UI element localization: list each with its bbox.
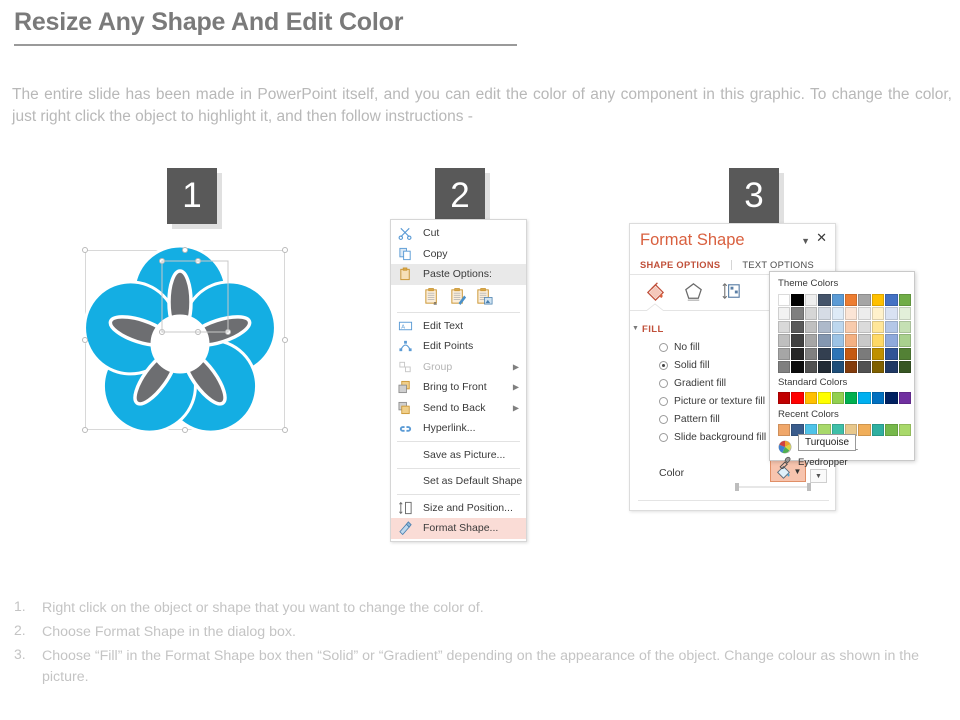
instruction-number: 3. xyxy=(14,646,42,688)
fill-option-no-fill[interactable]: No fill xyxy=(659,342,700,353)
theme-color-swatch[interactable] xyxy=(885,294,897,306)
context-menu-item-label: Edit Text xyxy=(423,320,463,332)
theme-color-swatch[interactable] xyxy=(818,334,830,346)
step-badge-1: 1 xyxy=(167,168,217,224)
context-menu-item-cut[interactable]: Cut xyxy=(391,223,526,244)
theme-color-swatch[interactable] xyxy=(832,307,844,319)
theme-color-swatch[interactable] xyxy=(858,294,870,306)
group-icon xyxy=(397,359,414,374)
standard-color-swatch[interactable] xyxy=(791,392,803,404)
recent-color-swatch[interactable] xyxy=(778,424,790,436)
theme-color-swatch[interactable] xyxy=(832,294,844,306)
standard-colors-label: Standard Colors xyxy=(778,377,847,388)
theme-color-swatch[interactable] xyxy=(791,361,803,373)
instruction-item-2: 2.Choose Format Shape in the dialog box. xyxy=(14,622,944,643)
context-menu[interactable]: CutCopyPaste Options:aAEdit TextEdit Poi… xyxy=(390,219,527,542)
transparency-slider[interactable] xyxy=(735,482,813,492)
recent-color-swatch[interactable] xyxy=(899,424,911,436)
theme-color-swatch[interactable] xyxy=(791,321,803,333)
svg-text:a: a xyxy=(433,301,437,306)
theme-color-swatch[interactable] xyxy=(845,348,857,360)
active-tab-pointer xyxy=(646,303,664,311)
theme-color-swatch[interactable] xyxy=(818,294,830,306)
paste-options-icons[interactable]: a xyxy=(391,285,526,310)
pentagon-effects-icon[interactable] xyxy=(682,280,705,303)
fill-option-label: Solid fill xyxy=(674,360,709,371)
theme-color-swatch[interactable] xyxy=(805,348,817,360)
page-title: Resize Any Shape And Edit Color xyxy=(14,8,403,37)
context-menu-item-save-as-picture[interactable]: Save as Picture... xyxy=(391,445,526,466)
theme-color-swatch[interactable] xyxy=(805,294,817,306)
instruction-list: 1.Right click on the object or shape tha… xyxy=(14,598,944,691)
context-menu-item-label: Save as Picture... xyxy=(423,449,505,461)
eyedropper-action[interactable]: Eyedropper xyxy=(778,455,848,469)
fill-option-solid-fill[interactable]: Solid fill xyxy=(659,360,709,371)
theme-color-swatch[interactable] xyxy=(872,334,884,346)
theme-color-swatch[interactable] xyxy=(872,307,884,319)
theme-color-swatch[interactable] xyxy=(899,348,911,360)
theme-color-swatch[interactable] xyxy=(778,294,790,306)
context-menu-item-label: Bring to Front xyxy=(423,381,487,393)
standard-color-swatch[interactable] xyxy=(832,392,844,404)
standard-color-swatch[interactable] xyxy=(885,392,897,404)
copy-icon xyxy=(397,246,414,261)
context-menu-item-edit-text[interactable]: AEdit Text xyxy=(391,316,526,337)
fill-bucket-icon[interactable] xyxy=(644,280,667,303)
radio-button[interactable] xyxy=(659,415,668,424)
instruction-number: 1. xyxy=(14,598,42,619)
color-wheel-icon xyxy=(778,440,792,454)
theme-color-swatch[interactable] xyxy=(872,361,884,373)
context-menu-item-label: Copy xyxy=(423,248,448,260)
theme-color-swatch[interactable] xyxy=(818,361,830,373)
theme-color-swatch[interactable] xyxy=(845,294,857,306)
close-icon[interactable]: ✕ xyxy=(816,231,827,244)
theme-color-swatch[interactable] xyxy=(791,348,803,360)
fill-option-gradient-fill[interactable]: Gradient fill xyxy=(659,378,726,389)
context-menu-item-copy[interactable]: Copy xyxy=(391,244,526,265)
theme-color-swatch[interactable] xyxy=(832,348,844,360)
recent-color-swatch[interactable] xyxy=(858,424,870,436)
radio-button[interactable] xyxy=(659,343,668,352)
theme-color-swatch[interactable] xyxy=(818,348,830,360)
theme-color-swatch[interactable] xyxy=(805,321,817,333)
fill-option-label: No fill xyxy=(674,342,700,353)
context-menu-item-label: Hyperlink... xyxy=(423,422,476,434)
pane-options-chevron-down-icon[interactable]: ▼ xyxy=(801,236,810,246)
paste-picture-icon[interactable] xyxy=(475,287,494,306)
instruction-text: Choose Format Shape in the dialog box. xyxy=(42,622,296,643)
theme-color-swatch[interactable] xyxy=(845,321,857,333)
fill-option-picture-or-texture-fill[interactable]: Picture or texture fill xyxy=(659,396,765,407)
standard-color-swatch[interactable] xyxy=(778,392,790,404)
sub-selection-outline xyxy=(85,250,285,430)
theme-color-swatch[interactable] xyxy=(818,321,830,333)
instruction-text: Choose “Fill” in the Format Shape box th… xyxy=(42,646,944,688)
fill-option-label: Slide background fill xyxy=(674,432,766,443)
context-menu-item-label: Send to Back xyxy=(423,402,485,414)
menu-separator xyxy=(397,468,520,469)
theme-color-swatch[interactable] xyxy=(872,348,884,360)
theme-color-swatch[interactable] xyxy=(858,348,870,360)
eyedropper-icon xyxy=(778,455,792,469)
theme-color-swatch[interactable] xyxy=(899,321,911,333)
context-menu-item-label: Size and Position... xyxy=(423,502,513,514)
paste-use-theme-icon[interactable] xyxy=(449,287,468,306)
standard-color-swatch[interactable] xyxy=(858,392,870,404)
fill-option-label: Gradient fill xyxy=(674,378,726,389)
theme-color-swatch[interactable] xyxy=(845,334,857,346)
format-shape-title: Format Shape xyxy=(640,231,745,250)
context-menu-item-set-as-default-shape[interactable]: Set as Default Shape xyxy=(391,471,526,492)
theme-color-swatch[interactable] xyxy=(791,307,803,319)
instruction-text: Right click on the object or shape that … xyxy=(42,598,484,619)
send-back-icon xyxy=(397,400,414,415)
context-menu-item-paste-options[interactable]: Paste Options: xyxy=(391,264,526,285)
context-menu-item-label: Edit Points xyxy=(423,340,473,352)
theme-color-swatch[interactable] xyxy=(885,348,897,360)
context-menu-item-bring-to-front[interactable]: Bring to Front▶ xyxy=(391,377,526,398)
instruction-item-3: 3.Choose “Fill” in the Format Shape box … xyxy=(14,646,944,688)
submenu-chevron-right-icon: ▶ xyxy=(513,362,519,371)
scissors-icon xyxy=(397,226,414,241)
theme-color-swatch[interactable] xyxy=(845,361,857,373)
theme-color-swatch[interactable] xyxy=(805,307,817,319)
theme-color-swatch[interactable] xyxy=(832,334,844,346)
paste-icon xyxy=(397,267,414,282)
theme-color-swatch[interactable] xyxy=(872,294,884,306)
context-menu-item-hyperlink[interactable]: Hyperlink... xyxy=(391,418,526,439)
context-menu-item-format-shape[interactable]: Format Shape... xyxy=(391,518,526,539)
theme-color-swatch[interactable] xyxy=(845,307,857,319)
theme-color-swatch[interactable] xyxy=(885,307,897,319)
edit-text-icon: A xyxy=(397,318,414,333)
fill-section-collapse-icon[interactable]: ▼ xyxy=(632,325,639,332)
flower-graphic-panel[interactable] xyxy=(85,250,285,430)
intro-paragraph: The entire slide has been made in PowerP… xyxy=(12,84,952,129)
size-position-icon xyxy=(397,500,414,515)
context-menu-item-label: Format Shape... xyxy=(423,522,498,534)
color-tooltip: Turquoise xyxy=(798,434,856,451)
context-menu-item-label: Group xyxy=(423,361,452,373)
context-menu-item-send-to-back[interactable]: Send to Back▶ xyxy=(391,398,526,419)
fill-option-label: Picture or texture fill xyxy=(674,396,765,407)
fill-option-pattern-fill[interactable]: Pattern fill xyxy=(659,414,720,425)
theme-color-swatch[interactable] xyxy=(899,307,911,319)
theme-color-swatch[interactable] xyxy=(778,361,790,373)
edit-points-icon xyxy=(397,339,414,354)
theme-color-swatch[interactable] xyxy=(791,334,803,346)
theme-color-swatch[interactable] xyxy=(832,361,844,373)
color-field-label: Color xyxy=(659,467,684,479)
fill-option-slide-background-fill[interactable]: Slide background fill xyxy=(659,432,766,443)
recent-colors-label: Recent Colors xyxy=(778,409,839,420)
standard-color-swatch[interactable] xyxy=(899,392,911,404)
transparency-spinner[interactable]: ▼ xyxy=(810,469,827,483)
context-menu-item-label: Paste Options: xyxy=(423,268,492,280)
fill-section-header: FILL xyxy=(642,324,664,335)
standard-color-swatch[interactable] xyxy=(805,392,817,404)
context-menu-item-group: Group▶ xyxy=(391,357,526,378)
recent-color-swatch[interactable] xyxy=(872,424,884,436)
menu-separator xyxy=(397,441,520,442)
radio-button[interactable] xyxy=(659,379,668,388)
menu-separator xyxy=(397,312,520,313)
instruction-number: 2. xyxy=(14,622,42,643)
theme-color-swatch[interactable] xyxy=(899,334,911,346)
theme-color-swatch[interactable] xyxy=(899,294,911,306)
pane-bottom-divider xyxy=(638,500,829,501)
tab-shape-options[interactable]: SHAPE OPTIONS xyxy=(640,260,720,270)
theme-color-swatch[interactable] xyxy=(805,334,817,346)
context-menu-item-size-and-position[interactable]: Size and Position... xyxy=(391,498,526,519)
hyperlink-icon xyxy=(397,421,414,436)
theme-color-swatch[interactable] xyxy=(818,307,830,319)
theme-colors-grid[interactable] xyxy=(778,294,911,373)
recent-color-swatch[interactable] xyxy=(885,424,897,436)
color-picker-dropdown[interactable]: Theme Colors Standard Colors Recent Colo… xyxy=(769,271,915,461)
theme-color-swatch[interactable] xyxy=(791,294,803,306)
step-badge-3: 3 xyxy=(729,168,779,224)
submenu-chevron-right-icon: ▶ xyxy=(513,383,519,392)
radio-button[interactable] xyxy=(659,361,668,370)
standard-color-swatch[interactable] xyxy=(872,392,884,404)
context-menu-item-edit-points[interactable]: Edit Points xyxy=(391,336,526,357)
radio-button[interactable] xyxy=(659,433,668,442)
theme-color-swatch[interactable] xyxy=(778,348,790,360)
theme-color-swatch[interactable] xyxy=(832,321,844,333)
tab-text-options[interactable]: TEXT OPTIONS xyxy=(731,260,814,270)
theme-color-swatch[interactable] xyxy=(872,321,884,333)
radio-button[interactable] xyxy=(659,397,668,406)
theme-color-swatch[interactable] xyxy=(885,334,897,346)
theme-color-swatch[interactable] xyxy=(885,321,897,333)
fill-option-label: Pattern fill xyxy=(674,414,720,425)
bring-front-icon xyxy=(397,380,414,395)
standard-color-swatch[interactable] xyxy=(845,392,857,404)
submenu-chevron-right-icon: ▶ xyxy=(513,403,519,412)
paste-keep-source-icon[interactable]: a xyxy=(423,287,442,306)
theme-colors-label: Theme Colors xyxy=(778,278,838,289)
theme-color-swatch[interactable] xyxy=(778,321,790,333)
step-badge-2: 2 xyxy=(435,168,485,224)
title-underline xyxy=(14,44,517,46)
size-properties-icon[interactable] xyxy=(720,280,743,303)
svg-text:A: A xyxy=(401,324,405,330)
instruction-item-1: 1.Right click on the object or shape tha… xyxy=(14,598,944,619)
theme-color-swatch[interactable] xyxy=(885,361,897,373)
theme-color-swatch[interactable] xyxy=(858,321,870,333)
theme-color-swatch[interactable] xyxy=(778,307,790,319)
theme-color-swatch[interactable] xyxy=(858,307,870,319)
eyedropper-label: Eyedropper xyxy=(798,457,848,468)
theme-color-swatch[interactable] xyxy=(899,361,911,373)
context-menu-item-label: Set as Default Shape xyxy=(423,475,522,487)
standard-color-swatch[interactable] xyxy=(818,392,830,404)
theme-color-swatch[interactable] xyxy=(858,361,870,373)
format-shape-icon xyxy=(397,521,414,536)
theme-color-swatch[interactable] xyxy=(805,361,817,373)
standard-colors-grid[interactable] xyxy=(778,392,911,404)
theme-color-swatch[interactable] xyxy=(858,334,870,346)
context-menu-item-label: Cut xyxy=(423,227,439,239)
menu-separator xyxy=(397,494,520,495)
theme-color-swatch[interactable] xyxy=(778,334,790,346)
